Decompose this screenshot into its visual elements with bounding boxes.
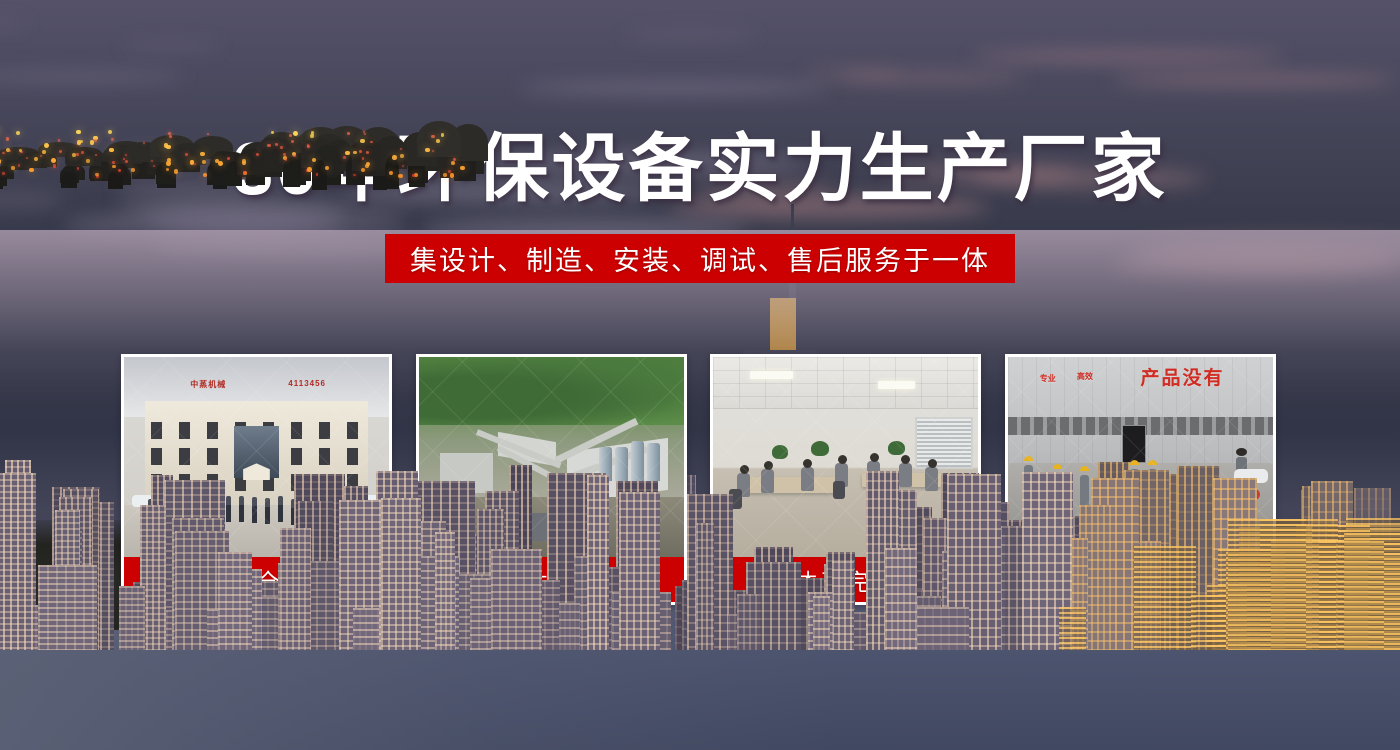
factory-wall-slogan-main: 产品没有: [1140, 363, 1224, 390]
hq-phone-text: 4113456: [288, 379, 326, 388]
tower-crown: [770, 298, 796, 350]
factory-wall-slogan-2: 专业: [1040, 373, 1056, 384]
hero-banner: 30年环保设备实力生产厂家 集设计、制造、安装、调试、售后服务于一体 中蒸机械: [0, 0, 1400, 750]
factory-wall-slogan-3: 高效: [1077, 371, 1093, 382]
hq-sign-text: 中蒸机械: [190, 379, 226, 390]
subtitle-banner: 集设计、制造、安装、调试、售后服务于一体: [385, 234, 1015, 283]
subtitle-text: 集设计、制造、安装、调试、售后服务于一体: [410, 239, 990, 278]
